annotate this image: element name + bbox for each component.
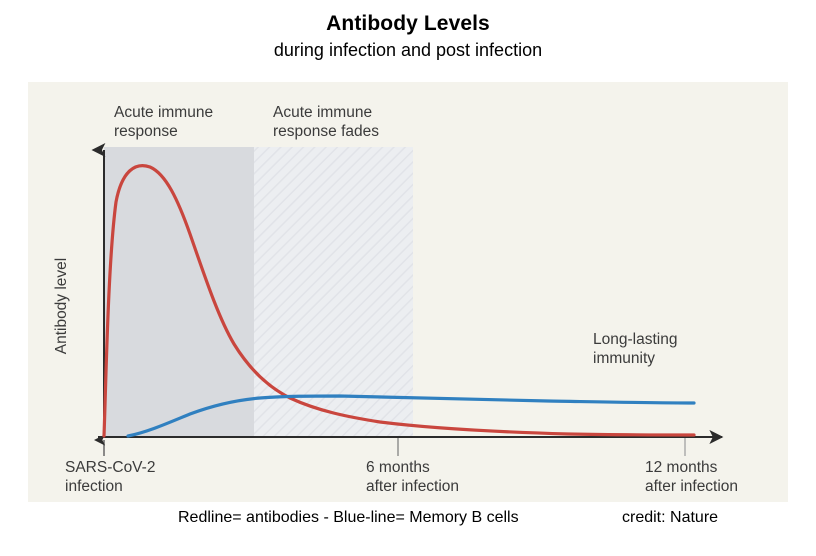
x-tick-label-12-months: 12 months after infection — [645, 458, 738, 496]
annotation-acute-immune-response-fades: Acute immune response fades — [273, 103, 379, 141]
page-title: Antibody Levels — [0, 11, 816, 37]
annotation-long-lasting-immunity: Long-lasting immunity — [593, 330, 677, 368]
chart-header: Antibody Levels during infection and pos… — [0, 0, 816, 62]
y-axis-title: Antibody level — [53, 246, 71, 366]
band-acute-immune-response-fades — [254, 147, 413, 437]
band-acute-immune-response — [104, 147, 254, 437]
antibody-levels-line-chart — [28, 82, 788, 502]
legend-text: Redline= antibodies - Blue-line= Memory … — [178, 509, 519, 527]
annotation-acute-immune-response: Acute immune response — [114, 103, 213, 141]
x-tick-label-infection: SARS-CoV-2 infection — [65, 458, 155, 496]
credit-text: credit: Nature — [622, 509, 718, 527]
page-subtitle: during infection and post infection — [0, 38, 816, 62]
chart-panel: Acute immune response Acute immune respo… — [28, 82, 788, 502]
x-tick-label-6-months: 6 months after infection — [366, 458, 459, 496]
